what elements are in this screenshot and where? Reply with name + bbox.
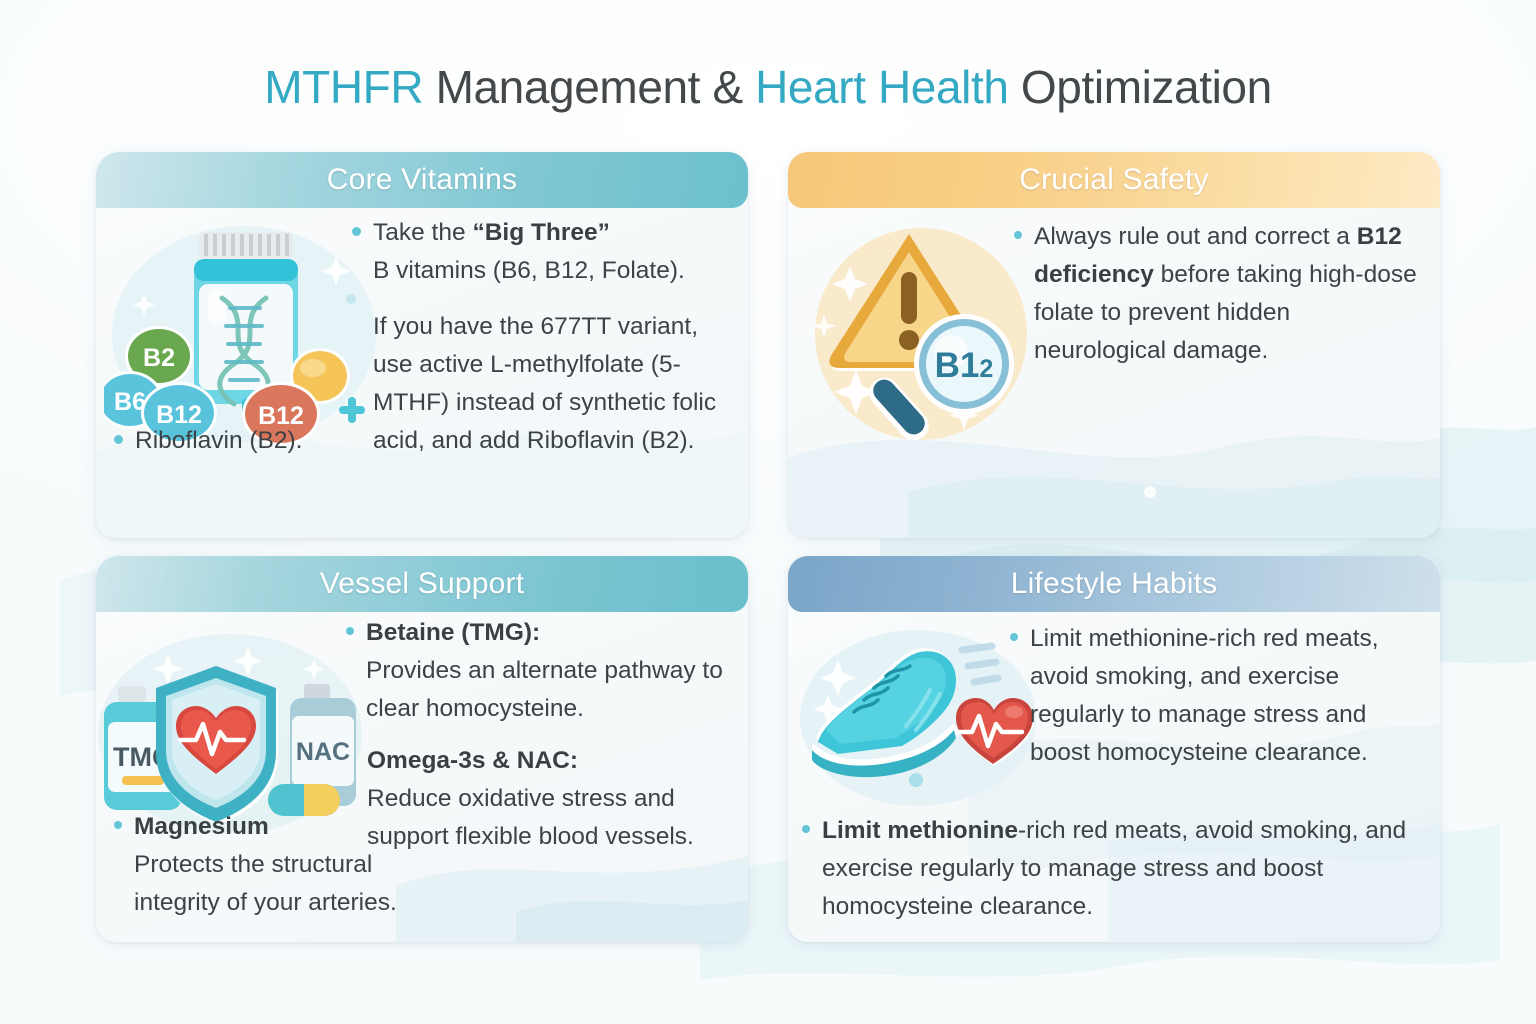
bullet-dot-icon: [114, 821, 122, 829]
card-lifestyle-habits-body: Limit methionine-rich red meats, avoid s…: [788, 612, 1440, 942]
card-lifestyle-habits-title: Lifestyle Habits: [1011, 567, 1218, 601]
card-lifestyle-habits[interactable]: Lifestyle Habits: [788, 556, 1440, 942]
vessel-body-betaine: Provides an alternate pathway to clear h…: [366, 657, 723, 722]
bullet-dot-icon: [802, 825, 810, 833]
safety-text-a: Always rule out and correct a: [1034, 223, 1357, 250]
overflow-bullet-text: Magnesium Protects the structural integr…: [134, 808, 444, 922]
bullet-item: Take the “Big Three” B vitamins (B6, B12…: [352, 214, 732, 290]
magnesium-lead: Magnesium: [134, 813, 269, 840]
bullet-lead-bold: “Big Three”: [472, 219, 610, 246]
card-core-vitamins-title: Core Vitamins: [327, 163, 517, 197]
bullet-dot-icon: [1010, 633, 1018, 641]
infographic-root: MTHFR Management & Heart Health Optimiza…: [0, 0, 1536, 1024]
magnesium-body: Protects the structural integrity of you…: [134, 851, 397, 916]
bullet-text: Betaine (TMG): Provides an alternate pat…: [366, 614, 740, 728]
bullet-dot-icon: [352, 227, 361, 236]
card-core-vitamins[interactable]: Core Vitamins: [96, 152, 748, 538]
card-crucial-safety-body: B12 Always rule out and correct a B12 de…: [788, 208, 1440, 538]
overflow-bullet-lifestyle: Limit methionine-rich red meats, avoid s…: [802, 812, 1420, 926]
bullet-text: Limit methionine-rich red meats, avoid s…: [1030, 620, 1428, 772]
card-crucial-safety-title: Crucial Safety: [1019, 163, 1209, 197]
title-part-optimization: Optimization: [1009, 61, 1272, 113]
bullet-item: Limit methionine-rich red meats, avoid s…: [1010, 620, 1428, 772]
vessel-lead-omega: Omega-3s & NAC:: [367, 747, 578, 774]
card-core-vitamins-header: Core Vitamins: [96, 152, 748, 208]
lifestyle-lead-bold: Limit methionine: [822, 817, 1018, 844]
card-lifestyle-habits-header: Lifestyle Habits: [788, 556, 1440, 612]
card-vessel-support[interactable]: Vessel Support TMG: [96, 556, 748, 942]
cards-grid: Core Vitamins: [96, 152, 1440, 962]
warning-triangle-magnifier-b12-illustration: B12: [806, 222, 1036, 452]
overflow-bullet-magnesium: Magnesium Protects the structural integr…: [114, 808, 444, 922]
title-part-mthfr: MTHFR: [264, 61, 423, 113]
bullet-rest: B vitamins (B6, B12, Folate).: [373, 257, 685, 284]
vessel-lead-betaine: Betaine (TMG):: [366, 619, 540, 646]
card-crucial-safety-header: Crucial Safety: [788, 152, 1440, 208]
card-vessel-support-header: Vessel Support: [96, 556, 748, 612]
bullet-item: Betaine (TMG): Provides an alternate pat…: [346, 614, 740, 728]
card-vessel-support-title: Vessel Support: [320, 567, 525, 601]
title-part-heart-health: Heart Health: [755, 61, 1008, 113]
overflow-bullet-riboflavin: Riboflavin (B2).: [114, 422, 414, 460]
card-crucial-safety-text: Always rule out and correct a B12 defici…: [1014, 218, 1424, 370]
bullet-dot-icon: [114, 435, 123, 444]
svg-text:NAC: NAC: [296, 738, 350, 766]
bullet-text: Take the “Big Three” B vitamins (B6, B12…: [373, 214, 685, 290]
card-crucial-safety[interactable]: Crucial Safety: [788, 152, 1440, 538]
title-part-management: Management &: [423, 61, 755, 113]
overflow-bullet-text: Riboflavin (B2).: [135, 422, 302, 460]
card-lifestyle-habits-text: Limit methionine-rich red meats, avoid s…: [1010, 620, 1428, 772]
card-core-vitamins-body: B2 B6 B12 B12: [96, 208, 748, 538]
bullet-lead-plain: Take the: [373, 219, 472, 246]
overflow-bullet-text: Limit methionine-rich red meats, avoid s…: [822, 812, 1420, 926]
card-vessel-support-body: TMG NAC: [96, 612, 748, 942]
page-title: MTHFR Management & Heart Health Optimiza…: [0, 60, 1536, 114]
svg-text:B2: B2: [143, 344, 175, 372]
bullet-dot-icon: [346, 627, 354, 635]
bullet-item: Always rule out and correct a B12 defici…: [1014, 218, 1424, 370]
bullet-dot-icon: [1014, 231, 1022, 239]
bullet-text: Always rule out and correct a B12 defici…: [1034, 218, 1424, 370]
